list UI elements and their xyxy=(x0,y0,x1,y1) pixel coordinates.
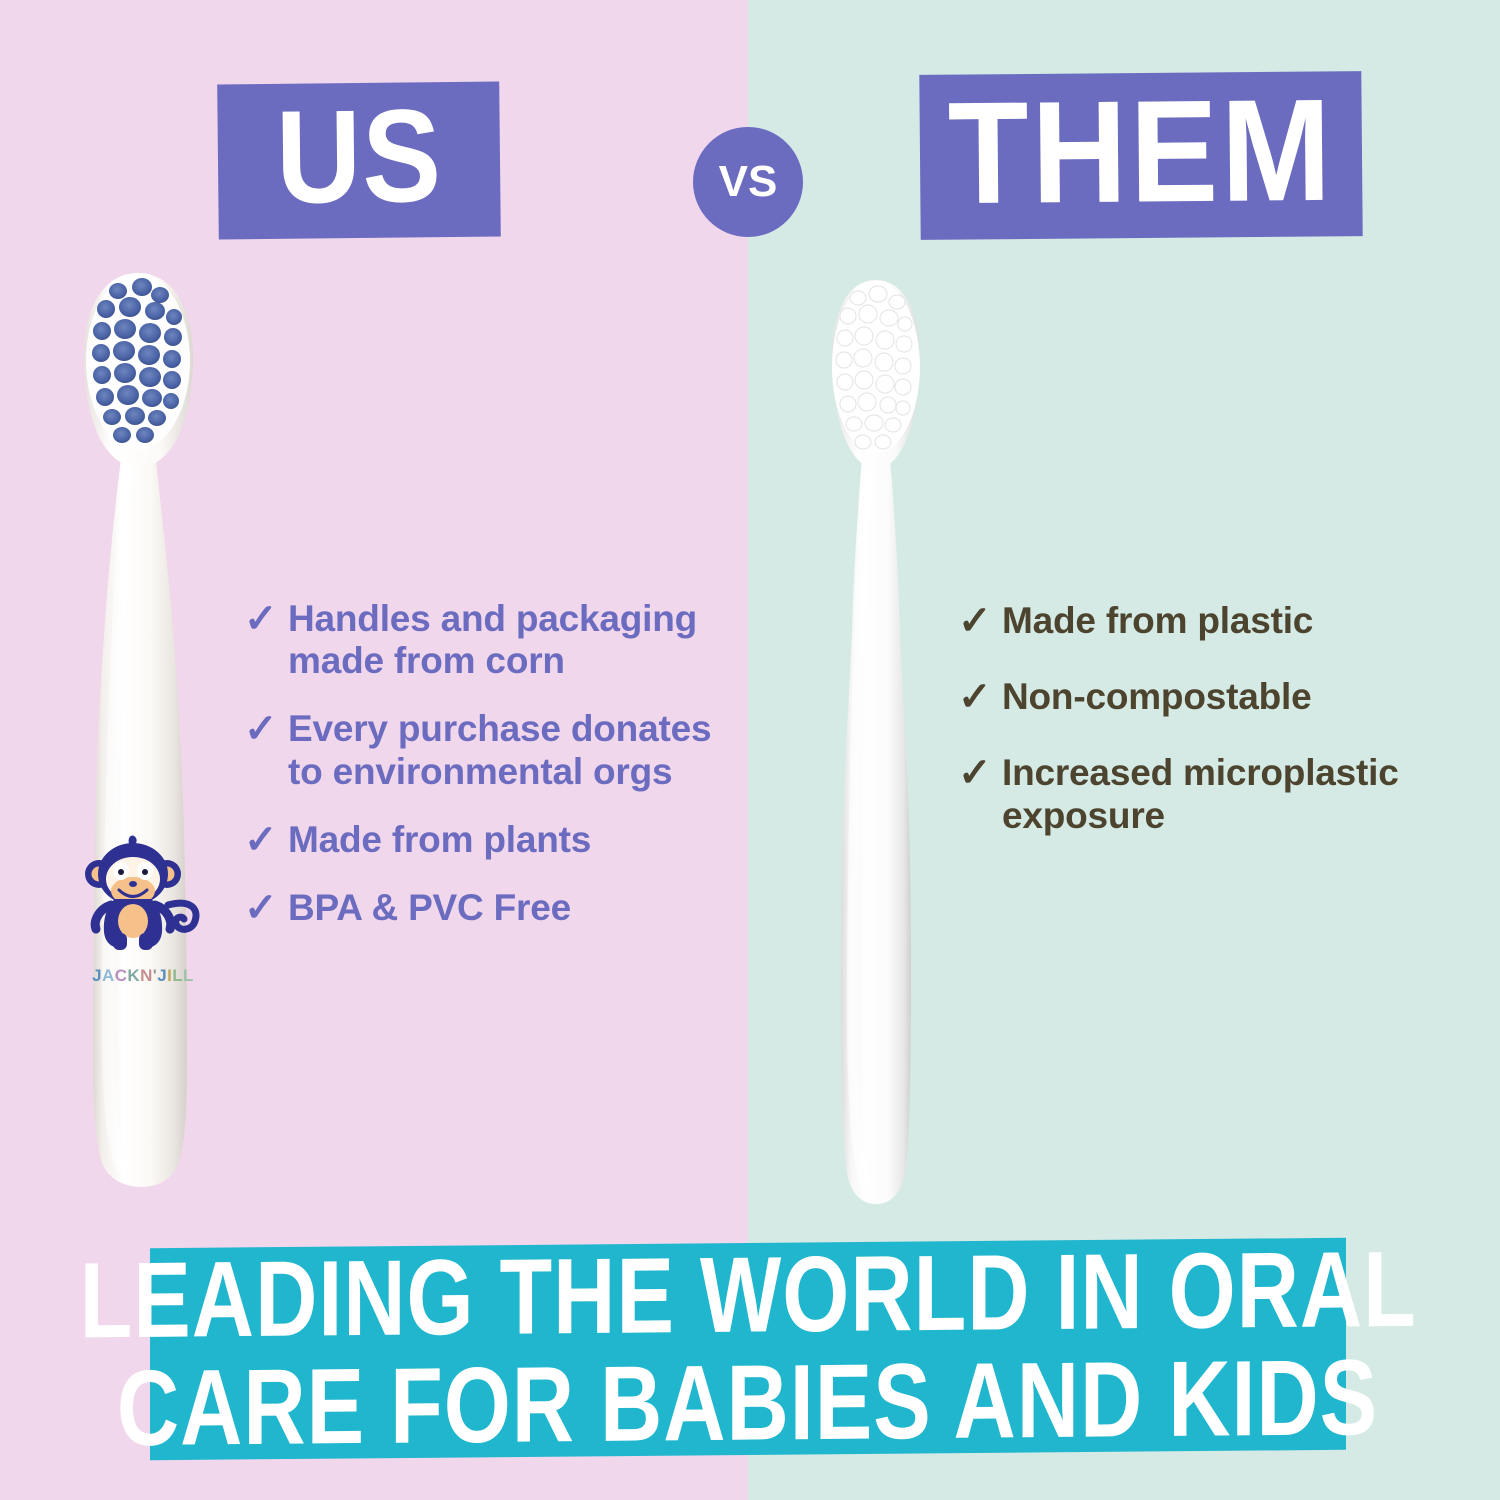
list-item: ✓ Made from plants xyxy=(244,819,724,861)
brand-letter: L xyxy=(172,966,183,986)
check-icon: ✓ xyxy=(958,600,1002,642)
list-item: ✓ Non-compostable xyxy=(958,676,1428,718)
brand-letter: J xyxy=(92,966,102,986)
check-icon: ✓ xyxy=(958,676,1002,718)
them-feature-list: ✓ Made from plastic ✓ Non-compostable ✓ … xyxy=(958,600,1428,871)
check-icon: ✓ xyxy=(244,708,288,750)
brand-wordmark: JACKN'JILL xyxy=(84,966,202,986)
us-badge: US xyxy=(217,82,501,240)
brand-letter: L xyxy=(183,966,194,986)
list-item-label: Increased microplastic exposure xyxy=(1002,752,1428,836)
list-item-label: Every purchase donates to environmental … xyxy=(288,708,724,792)
list-item-label: Made from plastic xyxy=(1002,600,1313,642)
comparison-infographic: JACKN'JILL xyxy=(0,0,1500,1500)
check-icon: ✓ xyxy=(958,752,1002,794)
vs-badge: VS xyxy=(693,127,803,237)
list-item-label: Made from plants xyxy=(288,819,591,861)
eco-toothbrush-illustration xyxy=(56,265,226,1190)
check-icon: ✓ xyxy=(244,887,288,929)
brand-letter: C xyxy=(115,966,128,986)
list-item-label: Non-compostable xyxy=(1002,676,1311,718)
brand-letter: K xyxy=(127,966,140,986)
brand-letter: A xyxy=(102,966,115,986)
check-icon: ✓ xyxy=(244,598,288,640)
tagline-line-1: LEADING THE WORLD IN ORAL xyxy=(79,1236,1416,1353)
check-icon: ✓ xyxy=(244,819,288,861)
list-item-label: Handles and packaging made from corn xyxy=(288,598,724,682)
them-badge: THEM xyxy=(919,71,1362,240)
us-badge-label: US xyxy=(275,90,442,224)
list-item-label: BPA & PVC Free xyxy=(288,887,571,929)
tagline-banner: LEADING THE WORLD IN ORAL CARE FOR BABIE… xyxy=(150,1238,1346,1460)
plastic-toothbrush-illustration xyxy=(806,272,946,1222)
them-badge-label: THEM xyxy=(947,77,1334,226)
list-item: ✓ Every purchase donates to environmenta… xyxy=(244,708,724,792)
list-item: ✓ Handles and packaging made from corn xyxy=(244,598,724,682)
tagline-line-2: CARE FOR BABIES AND KIDS xyxy=(117,1345,1378,1461)
brand-letter: J xyxy=(157,966,167,986)
list-item: ✓ BPA & PVC Free xyxy=(244,887,724,929)
list-item: ✓ Made from plastic xyxy=(958,600,1428,642)
vs-badge-label: VS xyxy=(719,157,778,207)
us-feature-list: ✓ Handles and packaging made from corn ✓… xyxy=(244,598,724,955)
brand-letter: N xyxy=(140,966,153,986)
list-item: ✓ Increased microplastic exposure xyxy=(958,752,1428,836)
monkey-logo-icon xyxy=(75,833,205,953)
